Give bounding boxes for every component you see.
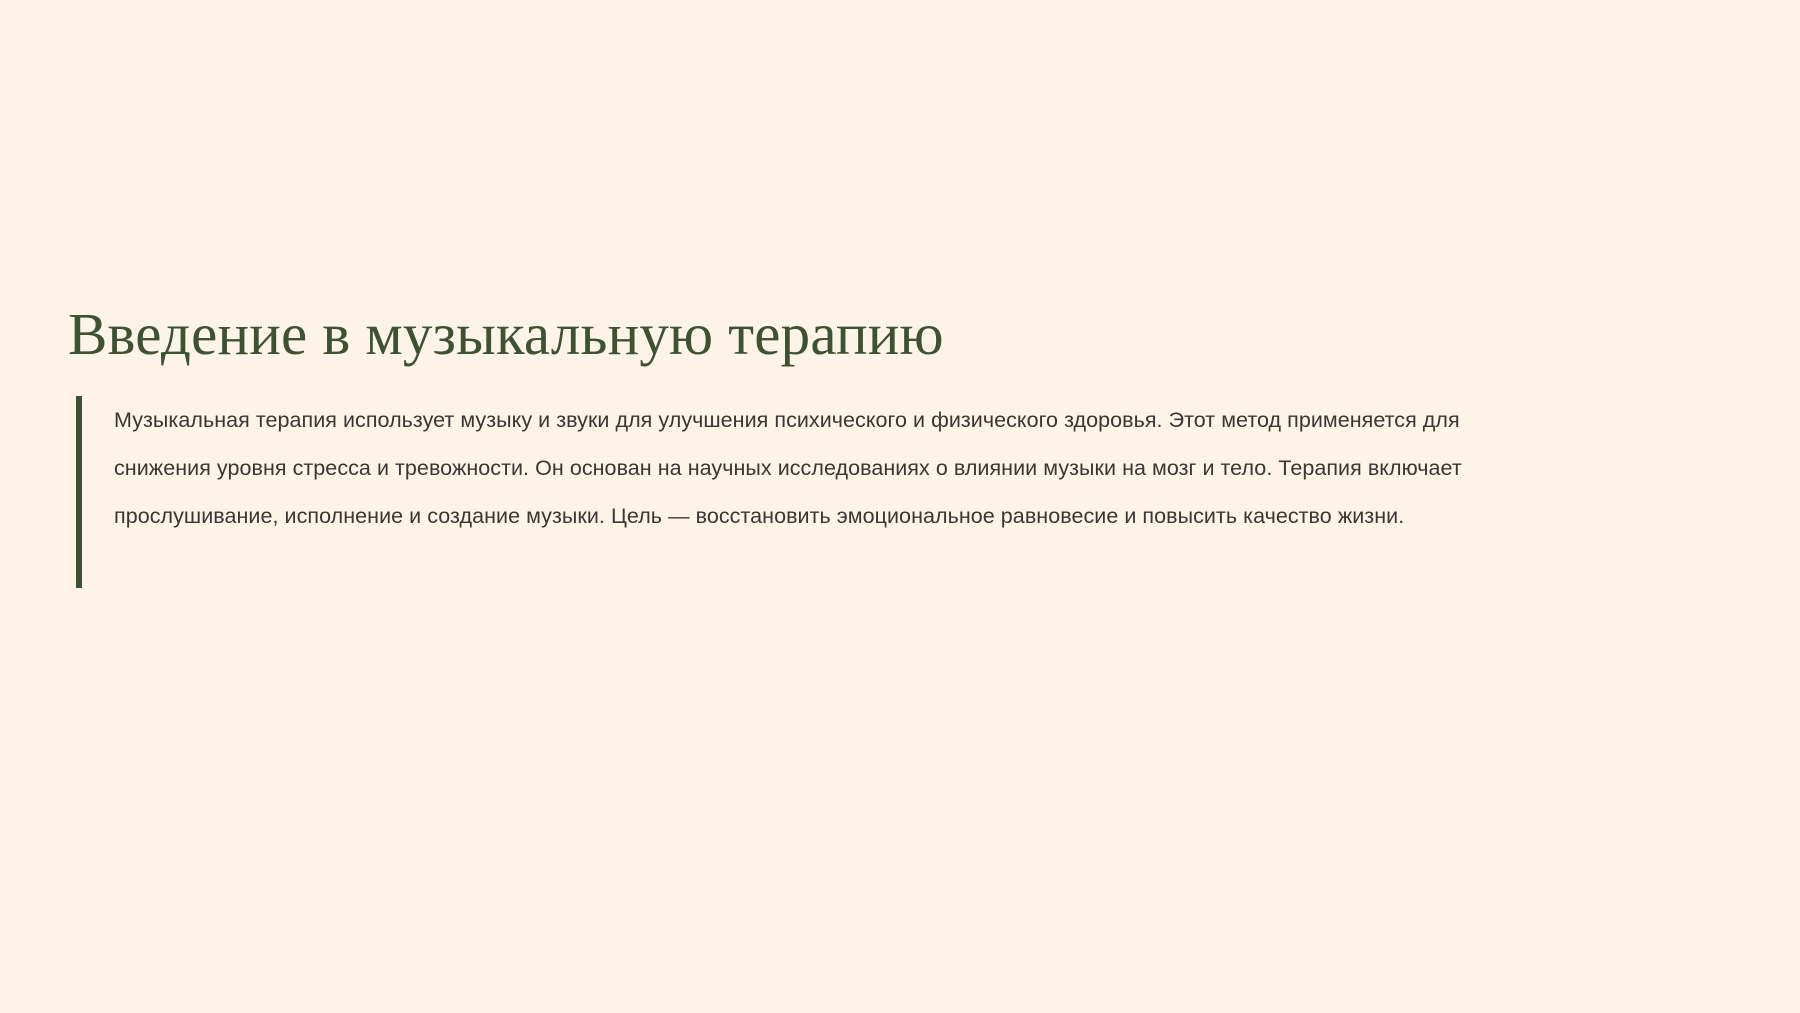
body-paragraph: Музыкальная терапия использует музыку и … <box>114 396 1514 540</box>
page-title: Введение в музыкальную терапию <box>68 300 1728 368</box>
quote-block: Музыкальная терапия использует музыку и … <box>68 396 1728 540</box>
content-block: Введение в музыкальную терапию Музыкальн… <box>68 300 1728 540</box>
accent-bar <box>76 396 82 588</box>
slide-canvas: Введение в музыкальную терапию Музыкальн… <box>0 0 1800 1013</box>
